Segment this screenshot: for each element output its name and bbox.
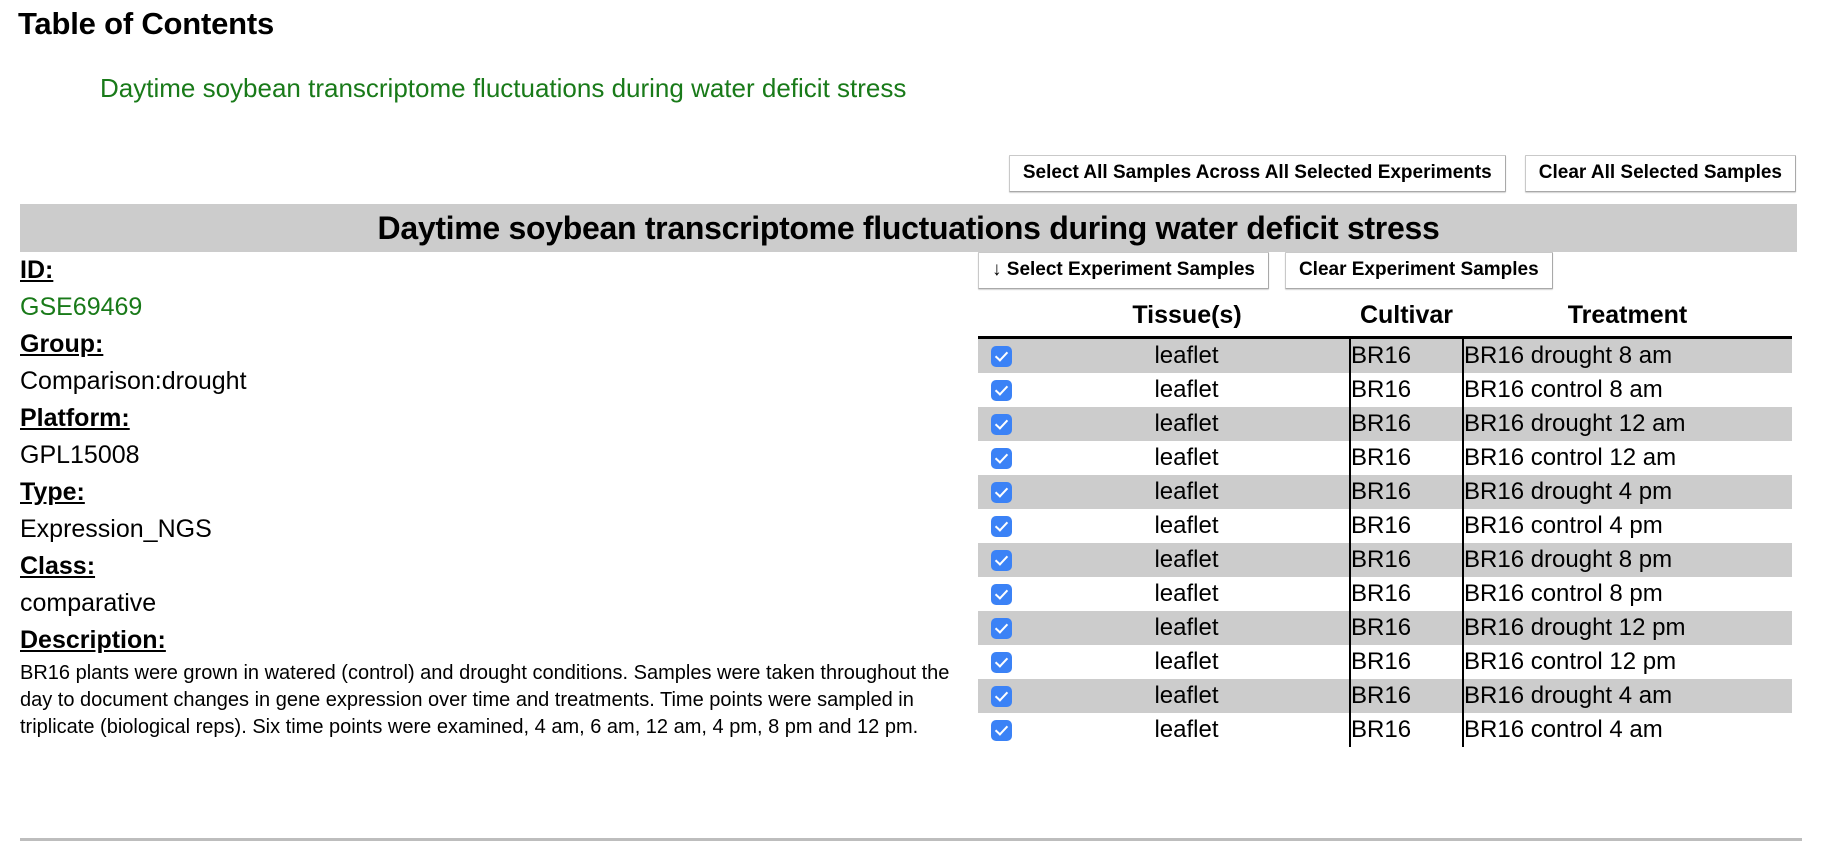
column-header-select [978,301,1024,338]
sample-tissue-cell: leaflet [1024,577,1350,611]
sample-treatment-cell: BR16 drought 8 pm [1463,543,1792,577]
metadata-label-type: Type: [20,474,970,511]
toc-list: Daytime soybean transcriptome fluctuatio… [100,72,906,104]
checkbox-checked-icon[interactable] [991,414,1012,435]
sample-cultivar-cell: BR16 [1350,338,1463,374]
sample-treatment-cell: BR16 drought 4 am [1463,679,1792,713]
metadata-value-description: BR16 plants were grown in watered (contr… [20,660,950,741]
clear-all-samples-button[interactable]: Clear All Selected Samples [1525,155,1796,192]
metadata-label-group: Group: [20,326,970,363]
sample-select-cell[interactable] [978,475,1024,509]
column-header-cultivar: Cultivar [1350,301,1463,338]
metadata-value-platform: GPL15008 [20,437,970,474]
clear-experiment-samples-button[interactable]: Clear Experiment Samples [1285,252,1553,289]
sample-treatment-cell: BR16 control 12 pm [1463,645,1792,679]
table-row: leafletBR16BR16 drought 4 pm [978,475,1792,509]
column-header-tissue: Tissue(s) [1024,301,1350,338]
sample-tissue-cell: leaflet [1024,441,1350,475]
sample-tissue-cell: leaflet [1024,645,1350,679]
sample-cultivar-cell: BR16 [1350,645,1463,679]
sample-cultivar-cell: BR16 [1350,373,1463,407]
sample-treatment-cell: BR16 drought 8 am [1463,338,1792,374]
checkbox-checked-icon[interactable] [991,584,1012,605]
sample-tissue-cell: leaflet [1024,475,1350,509]
sample-tissue-cell: leaflet [1024,509,1350,543]
metadata-value-id[interactable]: GSE69469 [20,289,970,326]
checkbox-checked-icon[interactable] [991,346,1012,367]
checkbox-checked-icon[interactable] [991,618,1012,639]
experiment-banner-title: Daytime soybean transcriptome fluctuatio… [378,210,1440,247]
metadata-label-class: Class: [20,548,970,585]
sample-select-cell[interactable] [978,611,1024,645]
checkbox-checked-icon[interactable] [991,448,1012,469]
select-experiment-samples-button[interactable]: ↓ Select Experiment Samples [978,252,1269,289]
table-row: leafletBR16BR16 control 4 am [978,713,1792,747]
checkbox-checked-icon[interactable] [991,550,1012,571]
select-all-samples-button[interactable]: Select All Samples Across All Selected E… [1009,155,1506,192]
sample-select-cell[interactable] [978,679,1024,713]
sample-cultivar-cell: BR16 [1350,407,1463,441]
sample-treatment-cell: BR16 drought 4 pm [1463,475,1792,509]
column-header-treatment: Treatment [1463,301,1792,338]
table-row: leafletBR16BR16 control 4 pm [978,509,1792,543]
sample-select-cell[interactable] [978,373,1024,407]
checkbox-checked-icon[interactable] [991,516,1012,537]
sample-select-cell[interactable] [978,543,1024,577]
metadata-value-type: Expression_NGS [20,511,970,548]
sample-treatment-cell: BR16 control 8 pm [1463,577,1792,611]
metadata-value-group: Comparison:drought [20,363,970,400]
sample-treatment-cell: BR16 control 4 am [1463,713,1792,747]
samples-table-header-row: Tissue(s) Cultivar Treatment [978,301,1792,338]
sample-tissue-cell: leaflet [1024,611,1350,645]
metadata-label-id: ID: [20,252,970,289]
samples-table-body: leafletBR16BR16 drought 8 amleafletBR16B… [978,338,1792,748]
checkbox-checked-icon[interactable] [991,380,1012,401]
sample-treatment-cell: BR16 drought 12 pm [1463,611,1792,645]
table-row: leafletBR16BR16 drought 8 pm [978,543,1792,577]
sample-tissue-cell: leaflet [1024,679,1350,713]
sample-select-cell[interactable] [978,577,1024,611]
table-row: leafletBR16BR16 drought 8 am [978,338,1792,374]
sample-cultivar-cell: BR16 [1350,679,1463,713]
sample-tissue-cell: leaflet [1024,713,1350,747]
sample-cultivar-cell: BR16 [1350,441,1463,475]
checkbox-checked-icon[interactable] [991,686,1012,707]
metadata-value-class: comparative [20,585,970,622]
checkbox-checked-icon[interactable] [991,482,1012,503]
sample-cultivar-cell: BR16 [1350,475,1463,509]
sample-select-cell[interactable] [978,645,1024,679]
sample-tissue-cell: leaflet [1024,543,1350,577]
table-row: leafletBR16BR16 control 12 am [978,441,1792,475]
sample-cultivar-cell: BR16 [1350,713,1463,747]
table-row: leafletBR16BR16 control 12 pm [978,645,1792,679]
sample-treatment-cell: BR16 drought 12 am [1463,407,1792,441]
page-title: Table of Contents [18,2,274,46]
sample-select-cell[interactable] [978,509,1024,543]
sample-treatment-cell: BR16 control 12 am [1463,441,1792,475]
sample-select-cell[interactable] [978,441,1024,475]
sample-cultivar-cell: BR16 [1350,509,1463,543]
table-row: leafletBR16BR16 control 8 pm [978,577,1792,611]
sample-treatment-cell: BR16 control 4 pm [1463,509,1792,543]
metadata-label-description: Description: [20,622,970,659]
sample-cultivar-cell: BR16 [1350,577,1463,611]
table-row: leafletBR16BR16 drought 12 am [978,407,1792,441]
sample-cultivar-cell: BR16 [1350,611,1463,645]
bottom-divider [20,838,1802,841]
metadata-label-platform: Platform: [20,400,970,437]
table-row: leafletBR16BR16 drought 12 pm [978,611,1792,645]
sample-treatment-cell: BR16 control 8 am [1463,373,1792,407]
sample-select-cell[interactable] [978,407,1024,441]
toc-link-experiment[interactable]: Daytime soybean transcriptome fluctuatio… [100,72,906,104]
checkbox-checked-icon[interactable] [991,720,1012,741]
global-action-bar: Select All Samples Across All Selected E… [1009,155,1796,192]
sample-tissue-cell: leaflet [1024,338,1350,374]
sample-tissue-cell: leaflet [1024,373,1350,407]
table-row: leafletBR16BR16 control 8 am [978,373,1792,407]
experiment-action-bar: ↓ Select Experiment Samples Clear Experi… [978,252,1792,289]
samples-table-head: Tissue(s) Cultivar Treatment [978,301,1792,338]
checkbox-checked-icon[interactable] [991,652,1012,673]
sample-select-cell[interactable] [978,713,1024,747]
experiment-metadata-panel: ID: GSE69469 Group: Comparison:drought P… [20,252,970,741]
experiment-banner: Daytime soybean transcriptome fluctuatio… [20,204,1797,252]
experiment-samples-panel: ↓ Select Experiment Samples Clear Experi… [978,252,1792,747]
samples-table: Tissue(s) Cultivar Treatment leafletBR16… [978,301,1792,747]
sample-select-cell[interactable] [978,338,1024,374]
table-row: leafletBR16BR16 drought 4 am [978,679,1792,713]
sample-tissue-cell: leaflet [1024,407,1350,441]
sample-cultivar-cell: BR16 [1350,543,1463,577]
